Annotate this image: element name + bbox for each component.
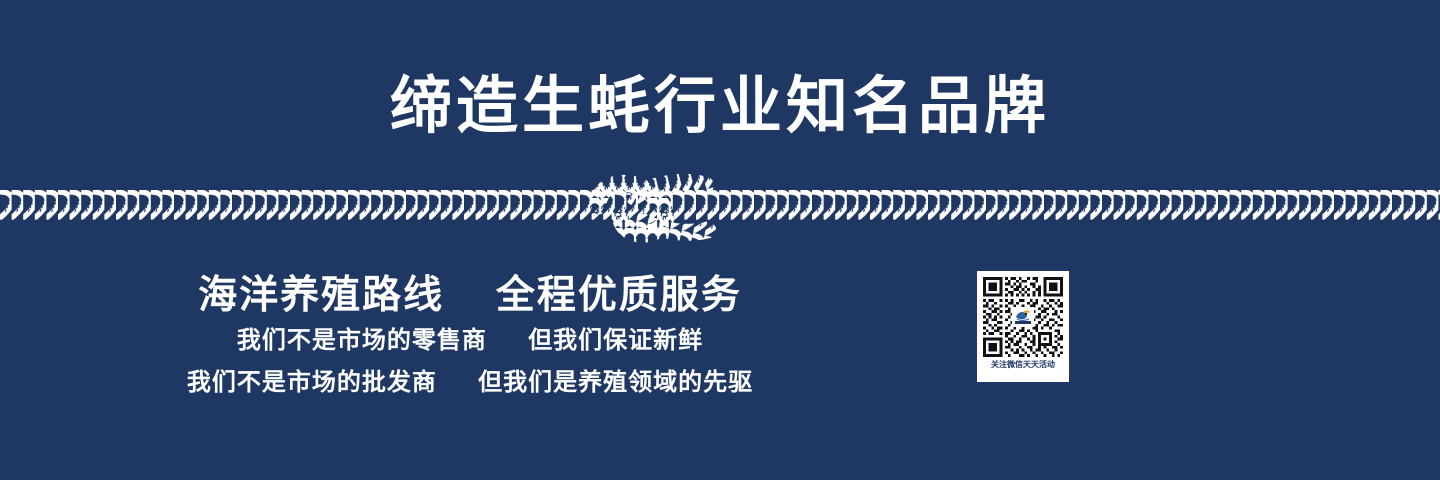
- subheadline-right: 全程优质服务: [496, 274, 742, 317]
- tagline-left: 我们不是市场的零售商: [237, 327, 487, 354]
- tagline-row: 我们不是市场的零售商 但我们保证新鲜: [0, 320, 940, 362]
- promo-banner: 缔造生蚝行业知名品牌: [0, 0, 1440, 480]
- brand-logo-icon: [1012, 307, 1034, 327]
- rope-knot-icon: [590, 168, 750, 244]
- tagline-right: 但我们是养殖领域的先驱: [478, 369, 753, 396]
- tagline-row: 我们不是市场的批发商 但我们是养殖领域的先驱: [0, 362, 940, 404]
- banner-subheadline: 海洋养殖路线 全程优质服务: [0, 264, 940, 320]
- brand-logo-mark: [1013, 308, 1033, 326]
- qr-caption: 关注微信天天活动: [983, 359, 1063, 371]
- banner-headline: 缔造生蚝行业知名品牌: [0, 74, 1440, 139]
- subheadline-left: 海洋养殖路线: [198, 274, 444, 317]
- qr-card[interactable]: 关注微信天天活动: [977, 271, 1069, 382]
- tagline-right: 但我们保证新鲜: [528, 327, 703, 354]
- qr-code-icon[interactable]: [983, 277, 1063, 357]
- rope-divider: [0, 168, 1440, 244]
- tagline-left: 我们不是市场的批发商: [187, 369, 437, 396]
- tagline-group: 我们不是市场的零售商 但我们保证新鲜 我们不是市场的批发商 但我们是养殖领域的先…: [0, 320, 940, 404]
